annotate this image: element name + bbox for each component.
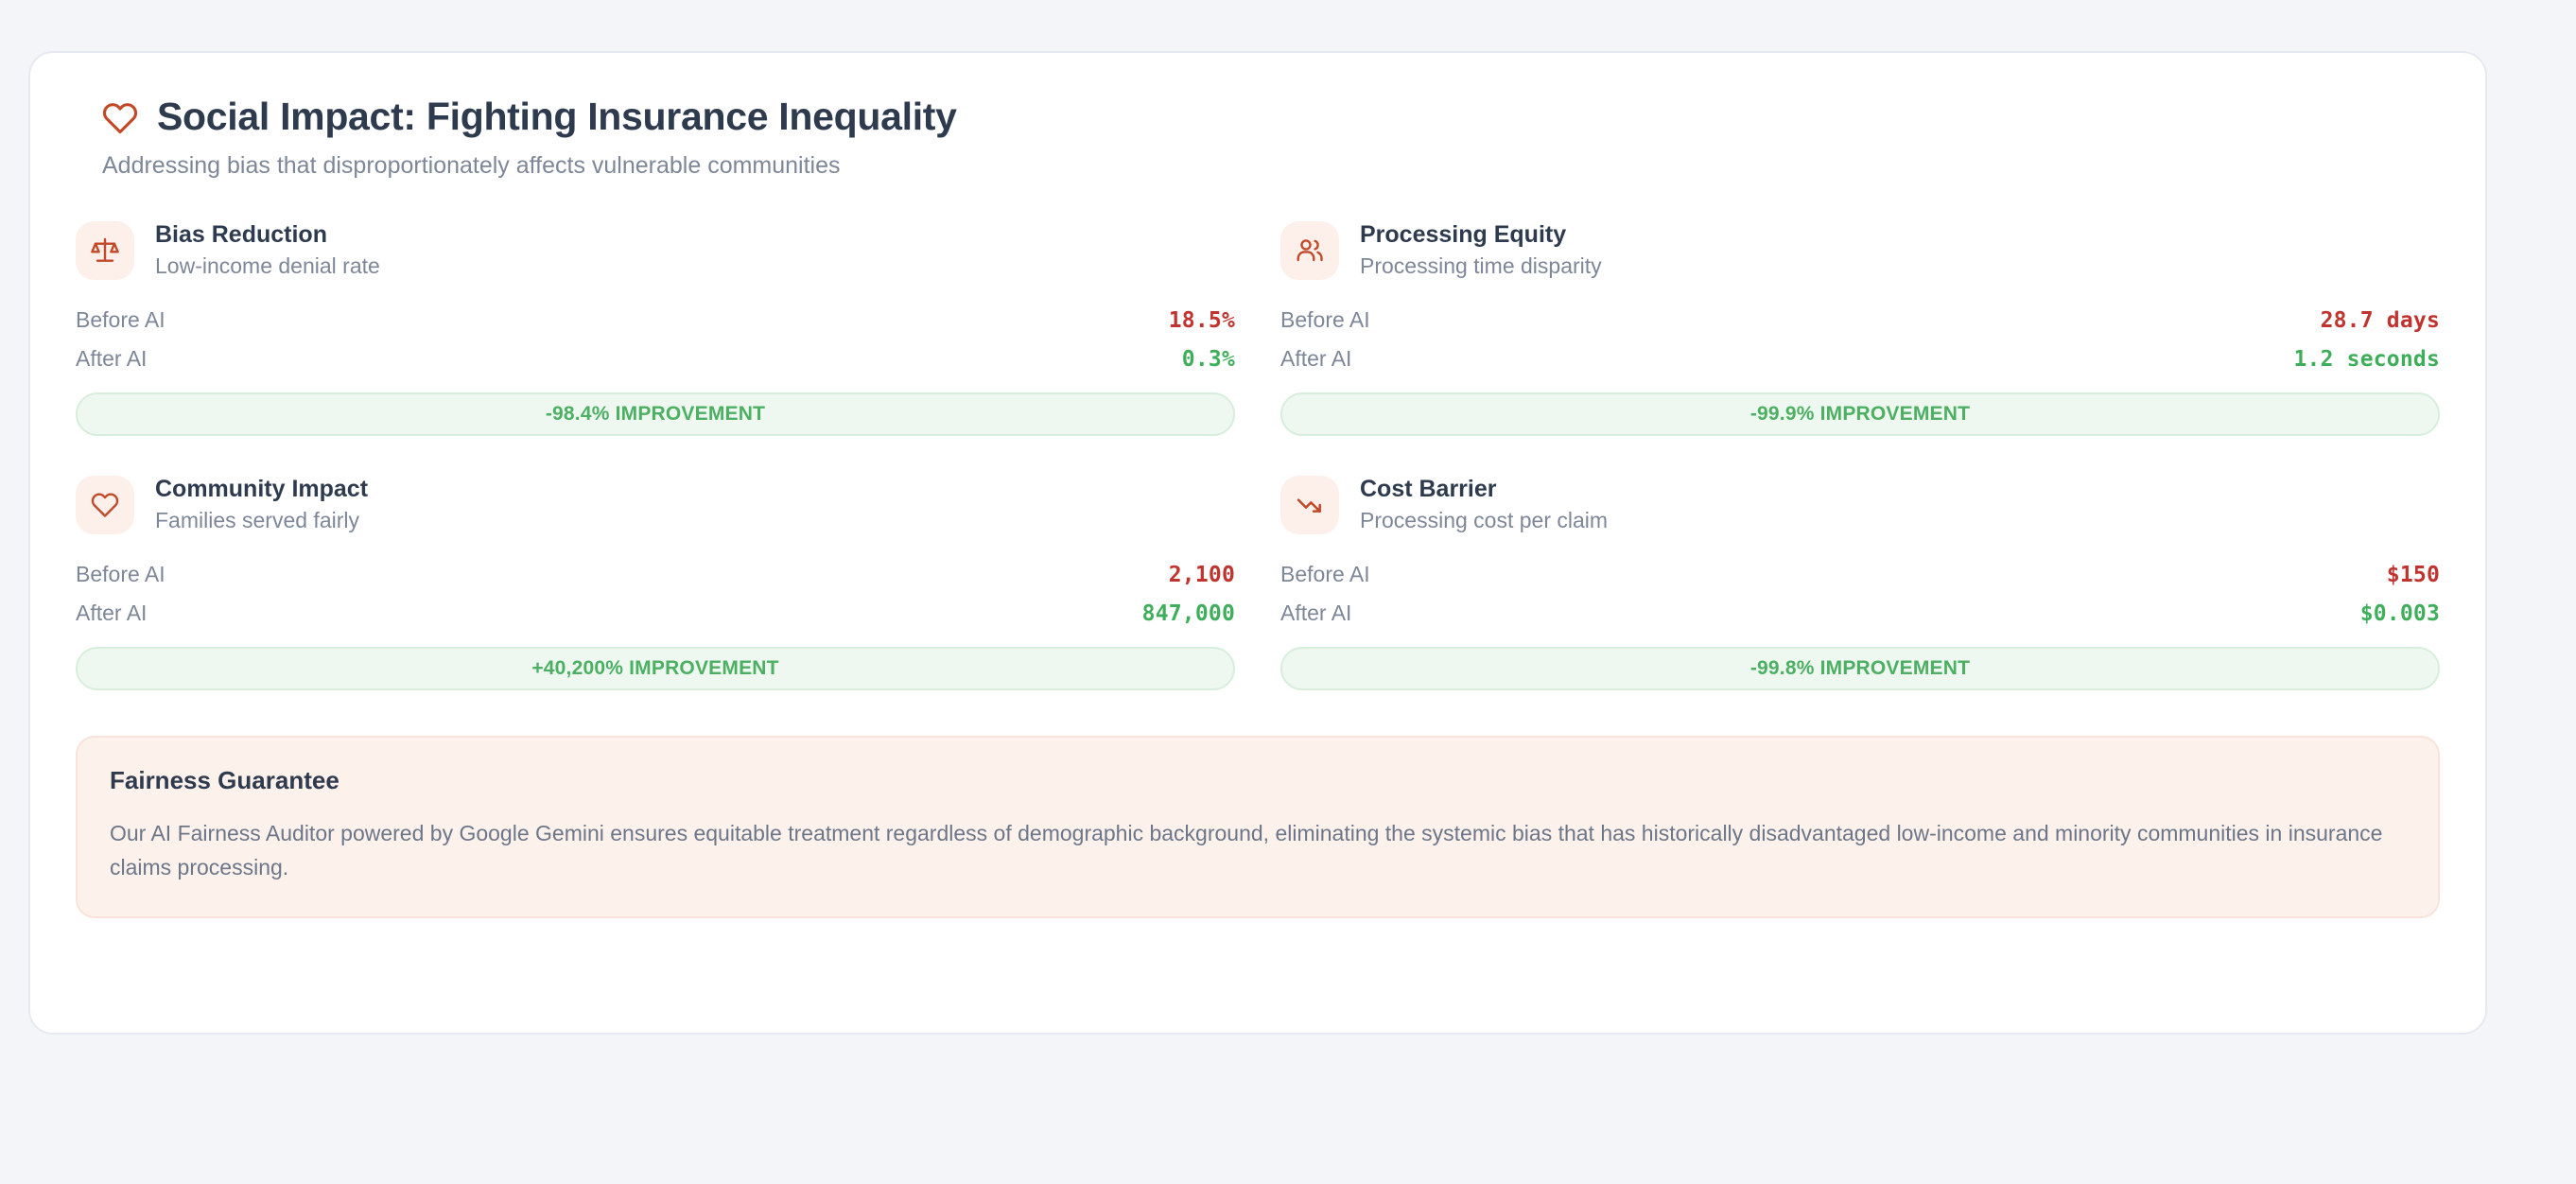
fairness-guarantee-box: Fairness Guarantee Our AI Fairness Audit… [76, 736, 2440, 918]
heart-icon [91, 491, 119, 519]
scales-icon-badge [76, 221, 134, 280]
trending-down-icon-badge [1280, 476, 1339, 534]
before-value: $150 [2387, 563, 2440, 587]
after-value: $0.003 [2360, 601, 2440, 626]
improvement-badge: -99.9% IMPROVEMENT [1280, 392, 2440, 436]
metric-row-after: After AI 1.2 seconds [1280, 340, 2440, 378]
users-icon [1295, 235, 1325, 266]
metric-row-after: After AI 847,000 [76, 594, 1235, 633]
metric-values: Before AI $150 After AI $0.003 [1280, 555, 2440, 633]
improvement-badge: -99.8% IMPROVEMENT [1280, 647, 2440, 690]
before-label: Before AI [1280, 562, 1370, 587]
panel-subtitle: Addressing bias that disproportionately … [102, 154, 2440, 178]
heart-icon [102, 100, 138, 136]
before-value: 2,100 [1169, 563, 1235, 587]
fairness-guarantee-body: Our AI Fairness Auditor powered by Googl… [110, 817, 2398, 884]
metric-name: Community Impact [155, 476, 368, 503]
metric-row-before: Before AI 18.5% [76, 301, 1235, 340]
fairness-guarantee-title: Fairness Guarantee [110, 768, 2406, 792]
metric-row-after: After AI 0.3% [76, 340, 1235, 378]
before-label: Before AI [76, 562, 165, 587]
metric-values: Before AI 2,100 After AI 847,000 [76, 555, 1235, 633]
metric-header: Bias Reduction Low-income denial rate [76, 221, 1235, 280]
after-label: After AI [76, 601, 147, 626]
metric-name: Bias Reduction [155, 221, 380, 249]
after-label: After AI [1280, 346, 1351, 372]
page-title: Social Impact: Fighting Insurance Inequa… [157, 97, 957, 136]
metric-card-processing-equity: Processing Equity Processing time dispar… [1280, 221, 2440, 436]
metric-name: Processing Equity [1360, 221, 1602, 249]
after-label: After AI [76, 346, 147, 372]
metric-row-before: Before AI 28.7 days [1280, 301, 2440, 340]
improvement-badge: -98.4% IMPROVEMENT [76, 392, 1235, 436]
before-label: Before AI [76, 307, 165, 333]
metric-card-community-impact: Community Impact Families served fairly … [76, 476, 1235, 690]
heart-icon-badge [76, 476, 134, 534]
metric-row-before: Before AI $150 [1280, 555, 2440, 594]
metric-description: Processing time disparity [1360, 252, 1602, 280]
metrics-grid: Bias Reduction Low-income denial rate Be… [76, 221, 2440, 690]
metric-description: Processing cost per claim [1360, 507, 1608, 534]
after-value: 847,000 [1142, 601, 1235, 626]
metric-description: Low-income denial rate [155, 252, 380, 280]
metric-description: Families served fairly [155, 507, 368, 534]
before-label: Before AI [1280, 307, 1370, 333]
social-impact-panel: Social Impact: Fighting Insurance Inequa… [28, 51, 2487, 1035]
before-value: 18.5% [1169, 308, 1235, 333]
metric-values: Before AI 28.7 days After AI 1.2 seconds [1280, 301, 2440, 378]
after-value: 1.2 seconds [2293, 347, 2440, 372]
metric-card-cost-barrier: Cost Barrier Processing cost per claim B… [1280, 476, 2440, 690]
metric-name: Cost Barrier [1360, 476, 1608, 503]
users-icon-badge [1280, 221, 1339, 280]
metric-card-bias-reduction: Bias Reduction Low-income denial rate Be… [76, 221, 1235, 436]
after-value: 0.3% [1182, 347, 1235, 372]
trending-down-icon [1295, 490, 1325, 520]
metric-header: Community Impact Families served fairly [76, 476, 1235, 534]
metric-header: Cost Barrier Processing cost per claim [1280, 476, 2440, 534]
metric-values: Before AI 18.5% After AI 0.3% [76, 301, 1235, 378]
panel-header: Social Impact: Fighting Insurance Inequa… [102, 96, 2440, 136]
metric-header: Processing Equity Processing time dispar… [1280, 221, 2440, 280]
before-value: 28.7 days [2321, 308, 2440, 333]
after-label: After AI [1280, 601, 1351, 626]
scales-icon [90, 235, 120, 266]
metric-row-before: Before AI 2,100 [76, 555, 1235, 594]
metric-row-after: After AI $0.003 [1280, 594, 2440, 633]
improvement-badge: +40,200% IMPROVEMENT [76, 647, 1235, 690]
